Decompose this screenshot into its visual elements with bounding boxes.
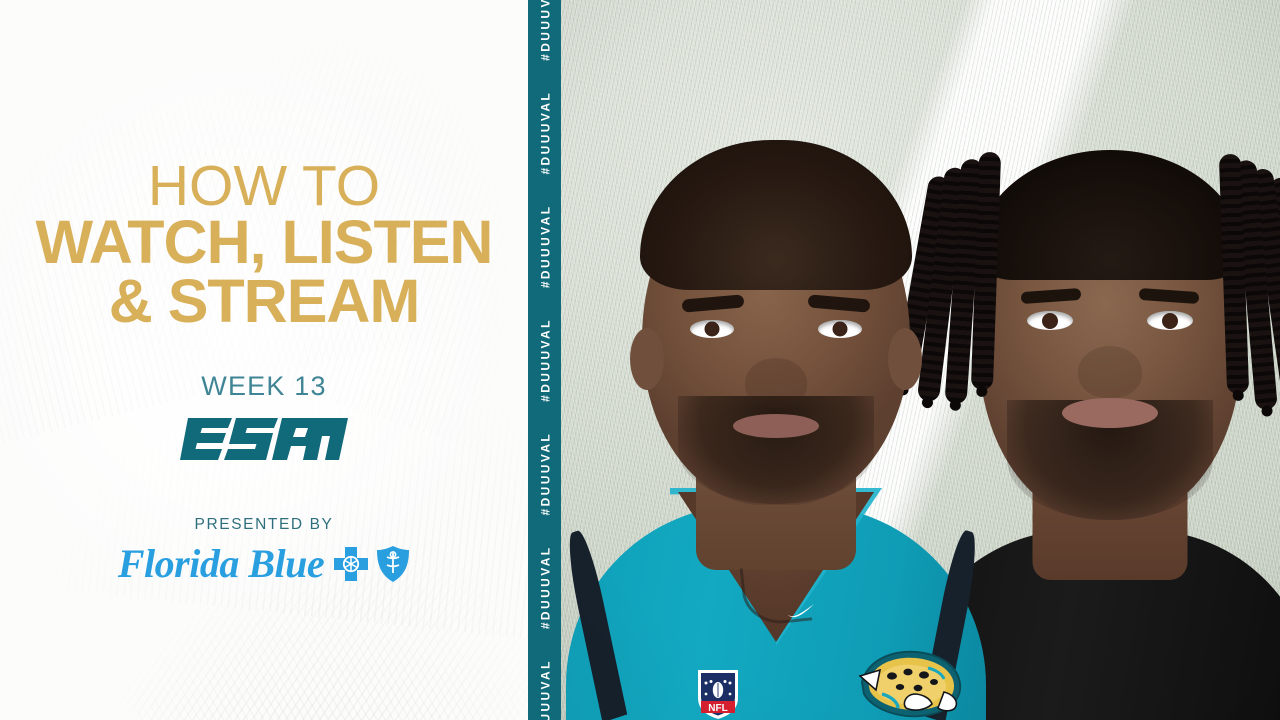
florida-blue-marks [333, 545, 410, 583]
svg-text:NFL: NFL [708, 703, 727, 714]
player-nose [745, 358, 807, 408]
jaguars-logo-icon [858, 646, 963, 718]
florida-blue-lockup: Florida Blue [118, 544, 410, 584]
player-hair-braids [976, 150, 1244, 280]
headline: HOW TO WATCH, LISTEN & STREAM [36, 160, 493, 329]
headline-line-3: & STREAM [36, 273, 493, 329]
player-nose [1078, 346, 1142, 398]
duuuval-text-track: #DUUUVAL #DUUUVAL #DUUUVAL #DUUUVAL #DUU… [528, 0, 561, 720]
presented-by-label: PRESENTED BY [195, 516, 334, 534]
promo-graphic: HOW TO WATCH, LISTEN & STREAM WEEK 13 [0, 0, 1280, 720]
florida-blue-wordmark: Florida Blue [118, 544, 324, 584]
player-hair [640, 140, 912, 290]
player-beard [678, 396, 874, 504]
nike-swoosh-icon [788, 604, 814, 618]
duuuval-accent-strip: #DUUUVAL #DUUUVAL #DUUUVAL #DUUUVAL #DUU… [528, 0, 561, 720]
blue-shield-icon [376, 545, 410, 583]
headline-line-2: WATCH, LISTEN [36, 214, 493, 270]
player-photo-panel: NFL [561, 0, 1280, 720]
duuuval-hashtag: #DUUUVAL [538, 318, 552, 402]
espn-logo [180, 416, 348, 462]
player-mouth [1062, 398, 1158, 428]
player-mouth [733, 414, 819, 438]
nfl-shield-icon: NFL [696, 668, 740, 720]
player-ear-left [630, 328, 664, 390]
player-eye-right [1147, 311, 1193, 330]
left-panel: HOW TO WATCH, LISTEN & STREAM WEEK 13 [0, 0, 528, 720]
player-ear-right [888, 328, 922, 390]
duuuval-hashtag: #DUUUVAL [538, 91, 552, 175]
blue-cross-icon [333, 546, 369, 582]
player-eye-right [818, 320, 862, 338]
player-eye-left [1027, 311, 1073, 330]
player-eye-left [690, 320, 734, 338]
duuuval-hashtag: #DUUUVAL [538, 432, 552, 516]
player-portrait-left: NFL [566, 0, 986, 720]
headline-line-1: HOW TO [36, 160, 493, 212]
duuuval-hashtag: #DUUUVAL [538, 205, 552, 289]
week-label: WEEK 13 [201, 371, 326, 402]
duuuval-hashtag: #DUUUVAL [538, 659, 552, 720]
left-panel-content: HOW TO WATCH, LISTEN & STREAM WEEK 13 [0, 0, 528, 720]
duuuval-hashtag: #DUUUVAL [538, 0, 552, 61]
duuuval-hashtag: #DUUUVAL [538, 545, 552, 629]
